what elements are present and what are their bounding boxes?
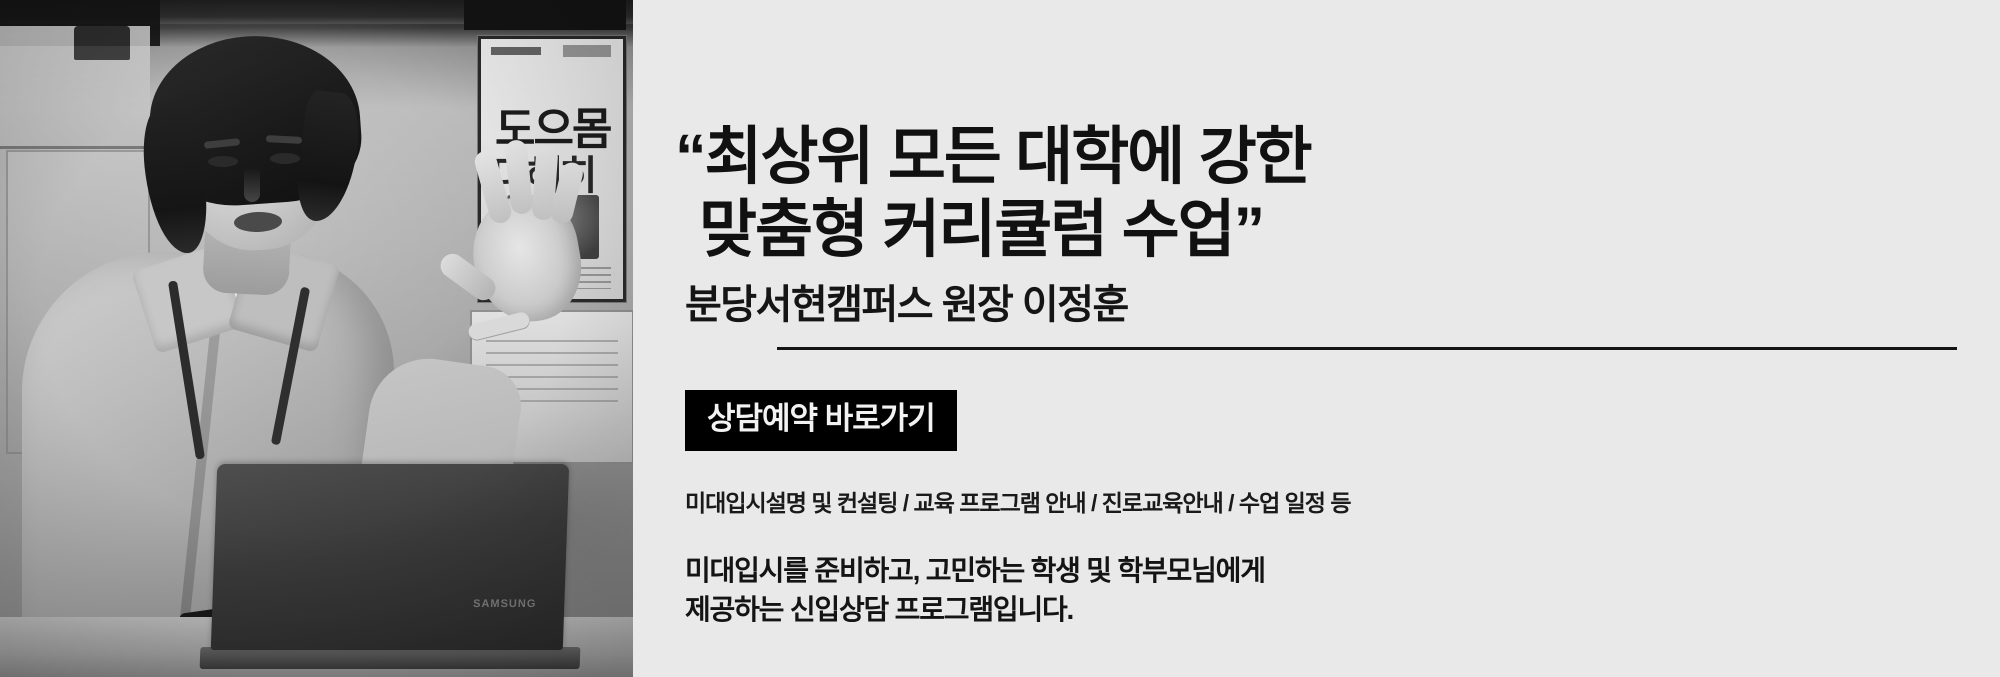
person-eye-left [208, 156, 238, 167]
instructor-photo: 도으몸 디해히아 [0, 0, 633, 677]
person-nose [244, 168, 260, 202]
headline-line-1: “최상위 모든 대학에 강한 [675, 122, 1311, 192]
laptop-lid: SAMSUNG [211, 464, 569, 650]
cta-description: 미대입시설명 및 컨설팅 / 교육 프로그램 안내 / 진로교육안내 / 수업 … [685, 484, 1351, 518]
wrist-bracelet [467, 311, 531, 342]
section-divider [777, 347, 1957, 350]
subtitle-campus-director: 분당서현캠퍼스 원장 이정훈 [685, 272, 1128, 330]
laptop-base [200, 647, 581, 669]
person-eye-right [270, 153, 300, 164]
consultation-booking-button[interactable]: 상담예약 바로가기 [685, 390, 957, 451]
laptop-brand-label: SAMSUNG [473, 598, 537, 610]
headline-line-2: 맞춤형 커리큘럼 수업” [675, 194, 1311, 267]
promo-banner: 도으몸 디해히아 [0, 0, 2000, 677]
content-panel: “최상위 모든 대학에 강한 맞춤형 커리큘럼 수업” 분당서현캠퍼스 원장 이… [633, 0, 2000, 677]
body-paragraph: 미대입시를 준비하고, 고민하는 학생 및 학부모님에게 제공하는 신입상담 프… [685, 552, 1265, 629]
